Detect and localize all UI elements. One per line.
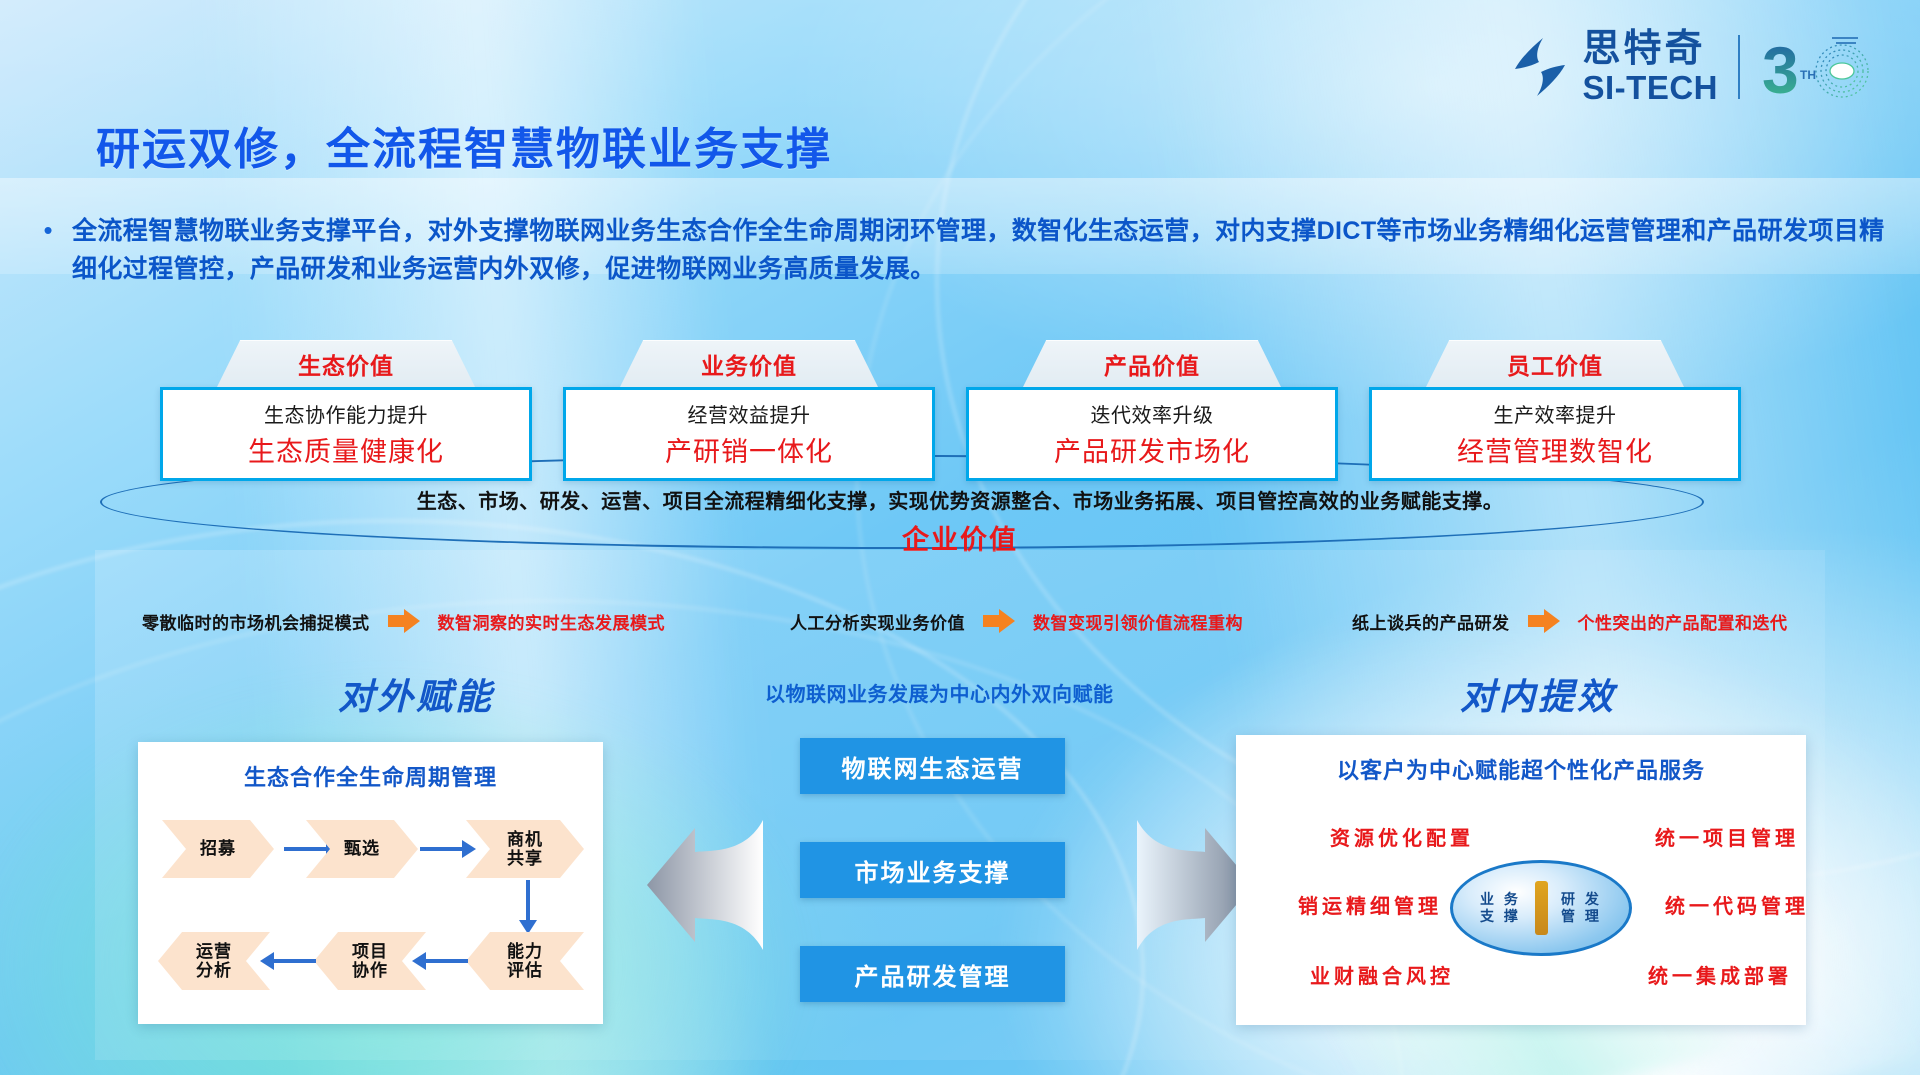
value-card-tab-label: 生态价值 bbox=[298, 347, 394, 381]
value-card-sub: 经营效益提升 bbox=[688, 399, 811, 428]
flow-step-label: 运营 bbox=[196, 942, 232, 961]
value-card-tab-label: 产品价值 bbox=[1104, 347, 1200, 381]
flow-arrow-down-icon bbox=[516, 880, 540, 936]
right-label-business-finance: 业财融合风控 bbox=[1310, 960, 1454, 989]
value-card[interactable]: 员工价值 生产效率提升 经营管理数智化 bbox=[1369, 340, 1741, 481]
core-oval: 业 务 支 撑 研 发 管 理 bbox=[1450, 860, 1632, 956]
flow-arrow-left-icon bbox=[410, 949, 468, 973]
left-panel-title: 生态合作全生命周期管理 bbox=[138, 760, 603, 792]
brand-logo: 思特奇 SI-TECH 3 TH bbox=[1513, 30, 1881, 104]
transformation-item: 纸上谈兵的产品研发 个性突出的产品配置和迭代 bbox=[1352, 600, 1788, 642]
core-left-line2: 支 撑 bbox=[1473, 908, 1529, 926]
section-heading-middle: 以物联网业务发展为中心内外双向赋能 bbox=[765, 678, 1114, 707]
orange-arrow-icon bbox=[981, 607, 1017, 635]
value-card[interactable]: 生态价值 生态协作能力提升 生态质量健康化 bbox=[160, 340, 532, 481]
value-card-tab-label: 员工价值 bbox=[1507, 347, 1603, 381]
core-oval-left-text: 业 务 支 撑 bbox=[1473, 891, 1529, 926]
center-box-product-rnd[interactable]: 产品研发管理 bbox=[800, 946, 1065, 1002]
value-card-body: 生产效率提升 经营管理数智化 bbox=[1369, 387, 1741, 481]
bullet-marker: • bbox=[38, 212, 58, 288]
center-box-market-business[interactable]: 市场业务支撑 bbox=[800, 842, 1065, 898]
transformation-from: 人工分析实现业务价值 bbox=[790, 609, 965, 634]
svg-text:TH: TH bbox=[1800, 68, 1816, 82]
right-label-unified-code: 统一代码管理 bbox=[1665, 890, 1809, 919]
logo-divider bbox=[1738, 35, 1740, 99]
core-right-line2: 管 理 bbox=[1554, 908, 1610, 926]
flow-step-label: 项目 bbox=[352, 942, 388, 961]
value-card-main: 经营管理数智化 bbox=[1457, 430, 1653, 469]
value-card-row: 生态价值 生态协作能力提升 生态质量健康化 业务价值 经营效益提升 产研销一体化… bbox=[160, 340, 1760, 480]
transformation-to: 数智变现引领价值流程重构 bbox=[1033, 609, 1243, 634]
big-arrow-left-icon bbox=[645, 820, 765, 950]
flow-step-label: 甄选 bbox=[344, 839, 380, 858]
flow-step-label: 招募 bbox=[200, 839, 236, 858]
value-card-main: 生态质量健康化 bbox=[248, 430, 444, 469]
value-card-sub: 生态协作能力提升 bbox=[264, 399, 428, 428]
value-card-sub: 生产效率提升 bbox=[1494, 399, 1617, 428]
flow-step-label-2: 分析 bbox=[196, 961, 232, 980]
flow-step-label-2: 协作 bbox=[352, 961, 388, 980]
transformation-from: 纸上谈兵的产品研发 bbox=[1352, 609, 1510, 634]
center-box-label: 物联网生态运营 bbox=[842, 749, 1024, 784]
flow-step-label: 商机 bbox=[507, 830, 543, 849]
left-panel: 生态合作全生命周期管理 招募 甄选 商机 共享 能力 评估 bbox=[138, 742, 603, 1024]
value-card-sub: 迭代效率升级 bbox=[1091, 399, 1214, 428]
value-summary-text: 生态、市场、研发、运营、项目全流程精细化支撑，实现优势资源整合、市场业务拓展、项… bbox=[0, 485, 1920, 514]
flow-step-opportunity-sharing[interactable]: 商机 共享 bbox=[466, 820, 584, 878]
orange-arrow-icon bbox=[1526, 607, 1562, 635]
center-box-iot-ecosystem[interactable]: 物联网生态运营 bbox=[800, 738, 1065, 794]
core-left-line1: 业 务 bbox=[1473, 891, 1529, 909]
value-card-body: 生态协作能力提升 生态质量健康化 bbox=[160, 387, 532, 481]
brand-name-en: SI-TECH bbox=[1583, 71, 1719, 104]
intro-bullet-text: 全流程智慧物联业务支撑平台，对外支撑物联网业务生态合作全生命周期闭环管理，数智化… bbox=[72, 212, 1888, 288]
value-card-main: 产品研发市场化 bbox=[1054, 430, 1250, 469]
right-label-resource-alloc: 资源优化配置 bbox=[1330, 822, 1474, 851]
flow-step-label-2: 评估 bbox=[507, 961, 543, 980]
value-card[interactable]: 产品价值 迭代效率升级 产品研发市场化 bbox=[966, 340, 1338, 481]
sitech-logomark-icon bbox=[1513, 36, 1567, 98]
svg-text:3: 3 bbox=[1762, 33, 1799, 103]
transformation-from: 零散临时的市场机会捕捉模式 bbox=[142, 609, 370, 634]
right-label-sales-ops: 销运精细管理 bbox=[1298, 890, 1442, 919]
transformation-to: 数智洞察的实时生态发展模式 bbox=[438, 609, 666, 634]
transformation-to: 个性突出的产品配置和迭代 bbox=[1578, 609, 1788, 634]
section-heading-external: 对外赋能 bbox=[338, 668, 494, 720]
section-heading-internal: 对内提效 bbox=[1460, 668, 1616, 720]
value-card-tab-label: 业务价值 bbox=[701, 347, 797, 381]
value-card-body: 迭代效率升级 产品研发市场化 bbox=[966, 387, 1338, 481]
transformation-item: 人工分析实现业务价值 数智变现引领价值流程重构 bbox=[790, 600, 1243, 642]
right-label-unified-project: 统一项目管理 bbox=[1655, 822, 1799, 851]
value-card[interactable]: 业务价值 经营效益提升 产研销一体化 bbox=[563, 340, 935, 481]
value-card-tab: 员工价值 bbox=[1426, 340, 1684, 387]
right-label-unified-deploy: 统一集成部署 bbox=[1648, 960, 1792, 989]
center-box-label: 产品研发管理 bbox=[855, 957, 1011, 992]
value-card-tab: 业务价值 bbox=[620, 340, 878, 387]
core-oval-right-text: 研 发 管 理 bbox=[1554, 891, 1610, 926]
slide-canvas: 思特奇 SI-TECH 3 TH bbox=[0, 0, 1920, 1075]
flow-step-label: 能力 bbox=[507, 942, 543, 961]
transformation-item: 零散临时的市场机会捕捉模式 数智洞察的实时生态发展模式 bbox=[142, 600, 665, 642]
anniversary-30th-icon: 3 TH bbox=[1760, 31, 1880, 103]
flow-arrow-left-icon bbox=[258, 949, 316, 973]
value-card-main: 产研销一体化 bbox=[665, 430, 833, 469]
value-card-body: 经营效益提升 产研销一体化 bbox=[563, 387, 935, 481]
core-oval-divider-bar bbox=[1535, 881, 1548, 935]
flow-arrow-right-icon bbox=[420, 837, 478, 861]
orange-arrow-icon bbox=[386, 607, 422, 635]
core-right-line1: 研 发 bbox=[1554, 891, 1610, 909]
brand-wordmark: 思特奇 SI-TECH bbox=[1583, 30, 1719, 104]
intro-bullet: • 全流程智慧物联业务支撑平台，对外支撑物联网业务生态合作全生命周期闭环管理，数… bbox=[38, 212, 1888, 288]
flow-step-operation-analysis[interactable]: 运营 分析 bbox=[158, 932, 270, 990]
brand-name-cn: 思特奇 bbox=[1583, 30, 1719, 68]
center-box-label: 市场业务支撑 bbox=[855, 853, 1011, 888]
value-card-tab: 生态价值 bbox=[217, 340, 475, 387]
transformation-row: 零散临时的市场机会捕捉模式 数智洞察的实时生态发展模式 人工分析实现业务价值 数… bbox=[0, 600, 1920, 642]
flow-step-recruit[interactable]: 招募 bbox=[162, 820, 274, 878]
value-card-tab: 产品价值 bbox=[1023, 340, 1281, 387]
flow-step-label-2: 共享 bbox=[507, 849, 543, 868]
flow-step-capability-assessment[interactable]: 能力 评估 bbox=[466, 932, 584, 990]
page-title: 研运双修，全流程智慧物联业务支撑 bbox=[96, 113, 832, 177]
right-panel-title: 以客户为中心赋能超个性化产品服务 bbox=[1236, 753, 1806, 785]
